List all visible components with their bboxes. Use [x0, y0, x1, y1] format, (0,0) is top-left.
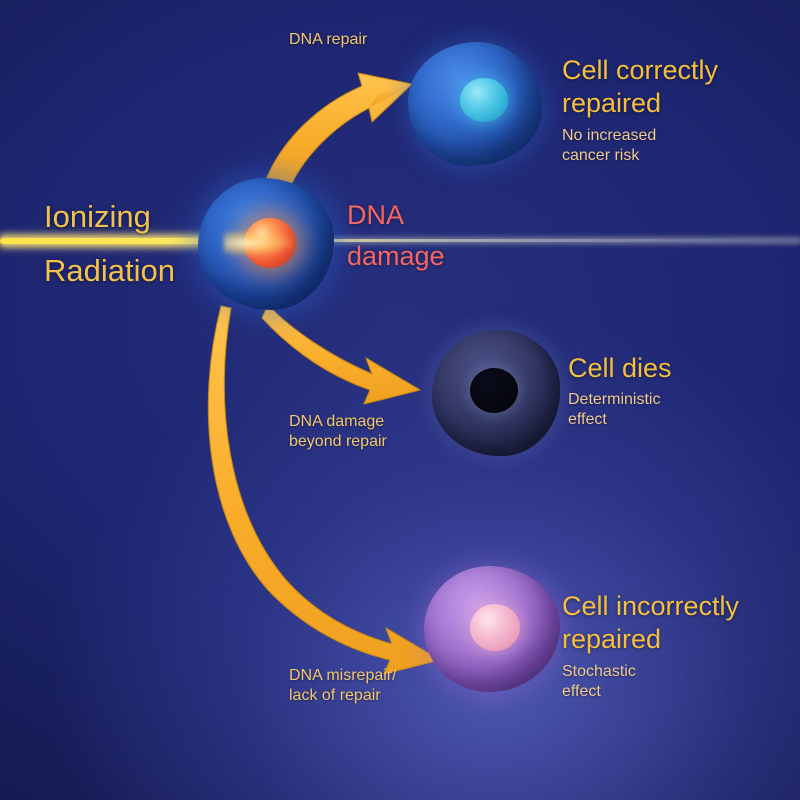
diagram-canvas: Ionizing Radiation DNA damage DNA repair…: [0, 0, 800, 800]
outcome-subtext-dies: Deterministic effect: [568, 390, 660, 429]
outcome-subtext-repaired: No increased cancer risk: [562, 126, 656, 165]
cell-nucleus: [470, 604, 520, 651]
arrow-label-beyond-repair: DNA damage beyond repair: [289, 412, 387, 451]
cell-nucleus: [470, 368, 518, 413]
dna-damage-label-line1: DNA: [347, 199, 404, 232]
arrow-to-dead-cell: [262, 305, 420, 404]
arrow-label-misrepair: DNA misrepair/ lack of repair: [289, 666, 397, 705]
arrow-to-misrepaired-cell: [208, 306, 440, 674]
ionizing-label: Ionizing: [44, 198, 151, 236]
outcome-heading-repaired: Cell correctly repaired: [562, 54, 718, 120]
incorrectly-repaired-cell: [424, 566, 560, 692]
radiation-label: Radiation: [44, 252, 175, 290]
outcome-heading-incorrect: Cell incorrectly repaired: [562, 590, 739, 656]
cell-nucleus: [460, 78, 508, 122]
arrow-layer: [0, 0, 800, 800]
outcome-subtext-incorrect: Stochastic effect: [562, 662, 636, 701]
correctly-repaired-cell: [408, 42, 542, 166]
arrow-label-dna-repair: DNA repair: [289, 30, 367, 50]
dead-cell: [432, 330, 560, 456]
beam-impact-flare: [224, 230, 294, 256]
dna-damage-label-line2: damage: [347, 240, 445, 273]
outcome-heading-dies: Cell dies: [568, 352, 672, 385]
irradiated-cell: [198, 178, 334, 310]
arrow-to-repaired: [264, 73, 412, 194]
